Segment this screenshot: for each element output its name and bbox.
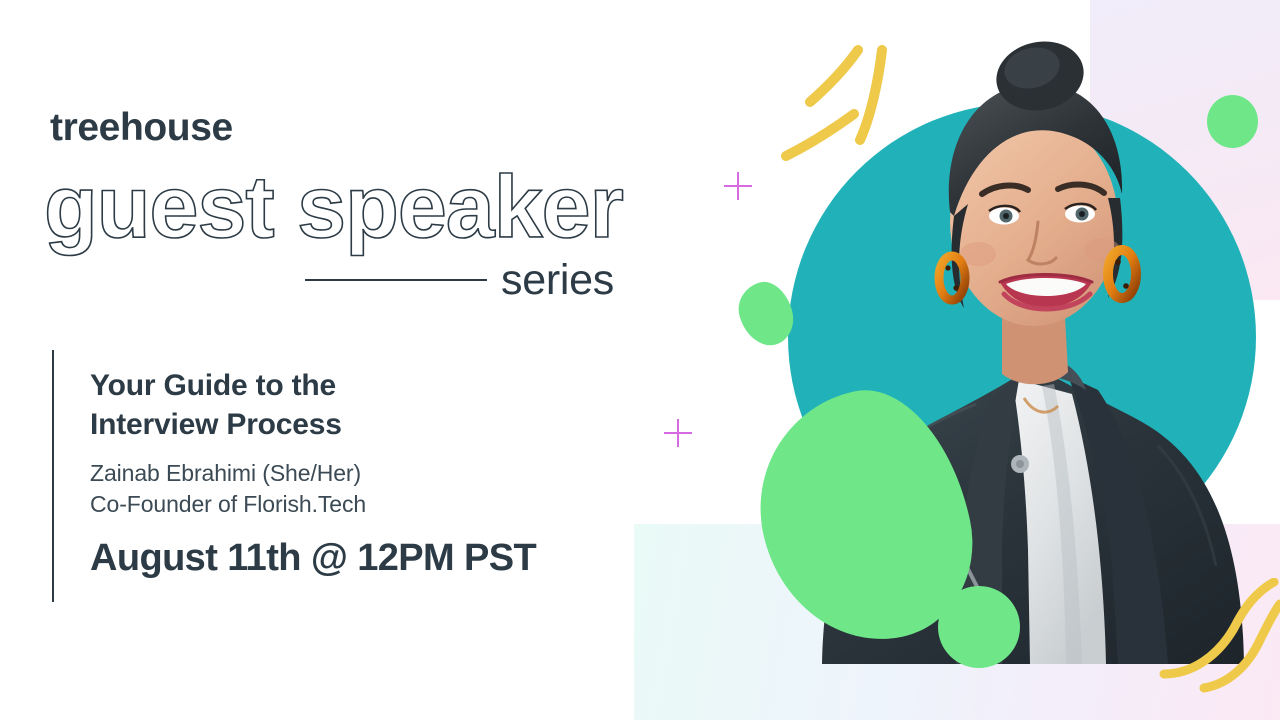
speaker-name: Zainab Ebrahimi (She/Her) — [90, 458, 630, 489]
series-row: series — [305, 255, 625, 305]
speaker-role: Co-Founder of Florish.Tech — [90, 489, 630, 520]
series-divider-rule — [305, 279, 487, 281]
headline-outlined: guest speaker — [44, 163, 623, 251]
talk-title: Your Guide to the Interview Process — [90, 366, 630, 444]
plus-mark-lower — [664, 419, 692, 447]
plus-mark-upper — [724, 172, 752, 200]
brand-wordmark: treehouse — [50, 108, 233, 147]
series-label: series — [501, 259, 614, 302]
detail-vertical-rule — [52, 350, 54, 602]
green-circle-bottom — [938, 586, 1020, 668]
promo-slide: treehouse guest speaker series Your Guid… — [0, 0, 1280, 720]
event-details: Your Guide to the Interview Process Zain… — [90, 366, 630, 577]
event-datetime: August 11th @ 12PM PST — [90, 539, 630, 577]
